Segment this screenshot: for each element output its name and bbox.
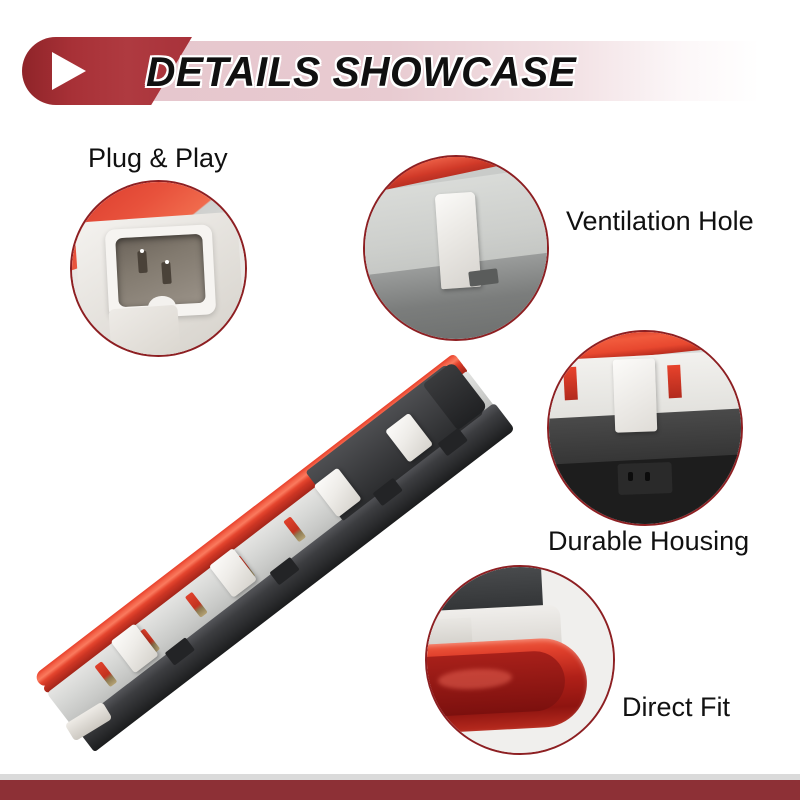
page-title: DETAILS SHOWCASE xyxy=(146,46,576,98)
plug-and-play-photo xyxy=(72,182,245,355)
third-brake-light-bar xyxy=(33,353,520,763)
footer-accent-bar xyxy=(0,780,800,800)
ventilation-hole-photo xyxy=(365,157,547,339)
feature-circle-plug-and-play xyxy=(70,180,247,357)
feature-label-ventilation-hole: Ventilation Hole xyxy=(566,208,754,235)
feature-label-plug-and-play: Plug & Play xyxy=(88,145,228,172)
header-banner: DETAILS SHOWCASE xyxy=(0,37,800,105)
play-triangle-icon xyxy=(52,52,86,90)
feature-circle-ventilation-hole xyxy=(363,155,549,341)
product-image xyxy=(20,355,540,750)
feature-label-durable-housing: Durable Housing xyxy=(548,528,749,555)
feature-label-direct-fit: Direct Fit xyxy=(622,694,730,721)
showcase-page: DETAILS SHOWCASE Plug & Play xyxy=(0,0,800,800)
feature-circle-durable-housing xyxy=(547,330,743,526)
durable-housing-photo xyxy=(549,332,741,524)
